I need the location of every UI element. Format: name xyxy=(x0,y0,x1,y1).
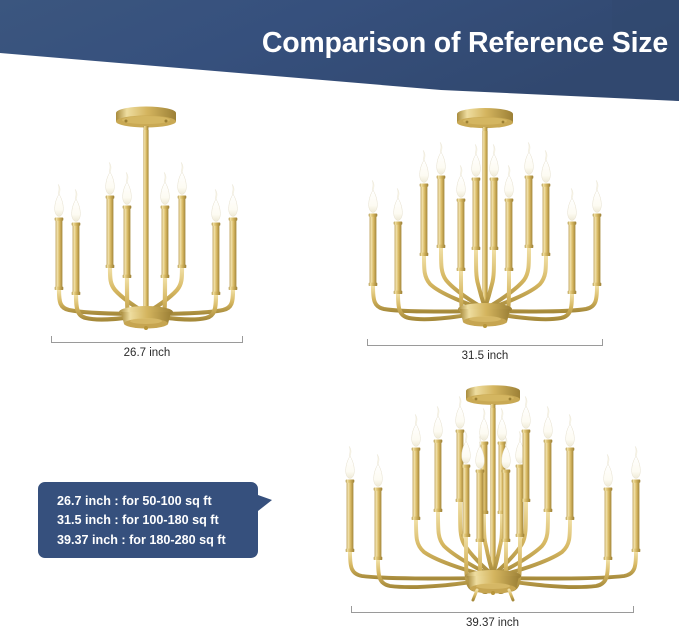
chandelier-large-drawing xyxy=(334,382,652,606)
dimension-label-small: 26.7 inch xyxy=(51,347,243,359)
dimension-cap-right xyxy=(242,336,243,343)
size-comparison-infographic: Comparison of Reference Size xyxy=(0,0,679,632)
callout-line-2: 31.5 inch : for 100-180 sq ft xyxy=(57,511,267,530)
dimension-cap-left xyxy=(51,336,52,343)
dimension-label-large: 39.37 inch xyxy=(351,617,634,629)
callout-line-3: 39.37 inch : for 180-280 sq ft xyxy=(57,531,267,550)
ceiling-canopy xyxy=(466,385,520,409)
dimension-large: 39.37 inch xyxy=(351,606,634,629)
callout-text-block: 26.7 inch : for 50-100 sq ft 31.5 inch :… xyxy=(57,492,267,550)
chandelier-medium-drawing xyxy=(352,104,618,336)
ceiling-canopy xyxy=(116,107,176,132)
dimension-medium: 31.5 inch xyxy=(367,339,603,362)
chandelier-large xyxy=(334,382,652,606)
size-recommendation-callout: 26.7 inch : for 50-100 sq ft 31.5 inch :… xyxy=(38,482,258,558)
dimension-cap-left xyxy=(351,606,352,613)
center-rod xyxy=(482,131,487,312)
dimension-cap-right xyxy=(633,606,634,613)
page-title: Comparison of Reference Size xyxy=(0,27,668,60)
center-hub xyxy=(465,570,521,600)
center-rod xyxy=(490,408,495,578)
ceiling-canopy xyxy=(457,108,513,132)
center-rod xyxy=(143,130,148,315)
callout-line-1: 26.7 inch : for 50-100 sq ft xyxy=(57,492,267,511)
dimension-label-medium: 31.5 inch xyxy=(367,350,603,362)
center-hub xyxy=(458,303,512,328)
center-hub xyxy=(119,306,173,330)
chandelier-small xyxy=(40,102,252,334)
dimension-small: 26.7 inch xyxy=(51,336,243,359)
dimension-cap-right xyxy=(602,339,603,346)
chandelier-medium xyxy=(352,104,618,336)
dimension-cap-left xyxy=(367,339,368,346)
chandelier-small-drawing xyxy=(40,102,252,334)
